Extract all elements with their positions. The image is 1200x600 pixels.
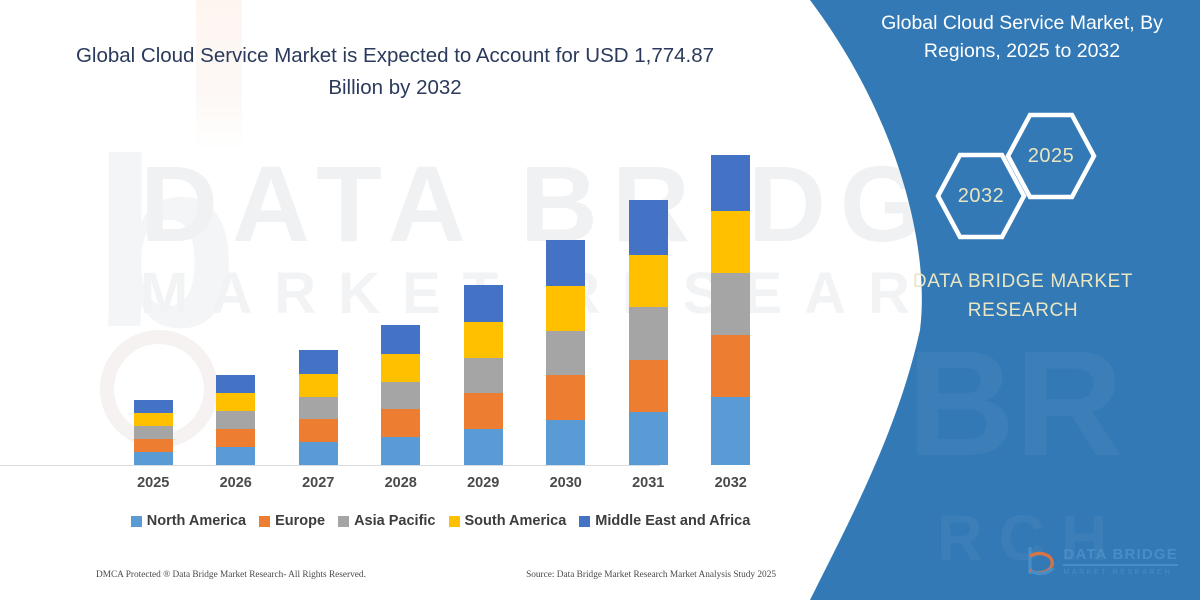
- bar-group-2025: [114, 140, 192, 465]
- legend-item[interactable]: South America: [449, 513, 567, 529]
- bar-segment[interactable]: [629, 200, 668, 255]
- x-tick-2028: 2028: [362, 475, 440, 491]
- brand-line-1: DATA BRIDGE MARKET: [858, 268, 1188, 297]
- logo-name: DATA BRIDGE: [1063, 547, 1178, 562]
- bar-group-2028: [362, 140, 440, 465]
- x-tick-2029: 2029: [444, 475, 522, 491]
- bar-segment[interactable]: [546, 331, 585, 376]
- bar-segment[interactable]: [464, 322, 503, 358]
- bar-segment[interactable]: [134, 439, 173, 452]
- footer: DMCA Protected ® Data Bridge Market Rese…: [96, 570, 776, 580]
- bar-segment[interactable]: [216, 447, 255, 465]
- bar-group-2027: [279, 140, 357, 465]
- stacked-bar-chart: [112, 140, 772, 465]
- x-tick-2027: 2027: [279, 475, 357, 491]
- panel-title: Global Cloud Service Market, By Regions,…: [862, 10, 1182, 65]
- hex-badge-2025: 2025: [1005, 110, 1097, 202]
- legend-label: South America: [465, 513, 567, 529]
- bar-segment[interactable]: [711, 211, 750, 273]
- bar-segment[interactable]: [134, 452, 173, 465]
- legend-label: North America: [147, 513, 246, 529]
- x-tick-2025: 2025: [114, 475, 192, 491]
- bar-segment[interactable]: [381, 409, 420, 437]
- bar-segment[interactable]: [381, 437, 420, 465]
- bar-segment[interactable]: [711, 155, 750, 211]
- legend-swatch-icon: [449, 516, 460, 527]
- bar-segment[interactable]: [546, 375, 585, 420]
- bar-segment[interactable]: [464, 358, 503, 394]
- bar-segment[interactable]: [134, 400, 173, 413]
- brand-line-2: RESEARCH: [858, 297, 1188, 326]
- footer-source: Source: Data Bridge Market Research Mark…: [526, 570, 776, 580]
- bar-segment[interactable]: [711, 335, 750, 397]
- bar-segment[interactable]: [299, 397, 338, 420]
- legend-swatch-icon: [259, 516, 270, 527]
- legend-swatch-icon: [338, 516, 349, 527]
- bar-segment[interactable]: [464, 393, 503, 429]
- legend-item[interactable]: Europe: [259, 513, 325, 529]
- data-bridge-logo: DATA BRIDGE MARKET RESEARCH: [1026, 544, 1178, 578]
- stacked-bar[interactable]: [216, 375, 255, 465]
- bar-segment[interactable]: [464, 285, 503, 322]
- x-tick-2030: 2030: [527, 475, 605, 491]
- bar-segment[interactable]: [299, 374, 338, 397]
- bar-segment[interactable]: [134, 426, 173, 439]
- bar-segment[interactable]: [629, 412, 668, 465]
- bar-segment[interactable]: [629, 307, 668, 359]
- legend-item[interactable]: Asia Pacific: [338, 513, 435, 529]
- x-tick-2026: 2026: [197, 475, 275, 491]
- bar-segment[interactable]: [299, 442, 338, 465]
- bar-group-2029: [444, 140, 522, 465]
- bar-segment[interactable]: [546, 286, 585, 331]
- bar-group-2030: [527, 140, 605, 465]
- bar-segment[interactable]: [381, 354, 420, 382]
- chart-legend: North AmericaEuropeAsia PacificSouth Ame…: [108, 513, 773, 529]
- svg-text:BR: BR: [907, 319, 1124, 487]
- stacked-bar[interactable]: [381, 325, 420, 465]
- bar-group-2031: [609, 140, 687, 465]
- legend-item[interactable]: Middle East and Africa: [579, 513, 750, 529]
- bar-segment[interactable]: [546, 240, 585, 286]
- bar-segment[interactable]: [711, 397, 750, 465]
- legend-label: Middle East and Africa: [595, 513, 750, 529]
- stacked-bar[interactable]: [299, 350, 338, 465]
- bar-segment[interactable]: [629, 255, 668, 307]
- stacked-bar[interactable]: [711, 155, 750, 465]
- legend-item[interactable]: North America: [131, 513, 246, 529]
- stacked-bar[interactable]: [134, 400, 173, 465]
- logo-tagline: MARKET RESEARCH: [1063, 569, 1178, 576]
- brand-name: DATA BRIDGE MARKET RESEARCH: [858, 268, 1188, 325]
- bar-segment[interactable]: [216, 393, 255, 411]
- bar-segment[interactable]: [546, 420, 585, 465]
- bar-segment[interactable]: [464, 429, 503, 465]
- bar-segment[interactable]: [216, 429, 255, 447]
- bar-segment[interactable]: [381, 382, 420, 410]
- bar-segment[interactable]: [711, 273, 750, 335]
- infographic-canvas: b DATA BRIDGE MARKET RESEARCH Global Clo…: [0, 0, 1200, 600]
- x-axis-tick-labels: 20252026202720282029203020312032: [112, 475, 772, 491]
- legend-swatch-icon: [131, 516, 142, 527]
- hex-badge-2025-label: 2025: [1005, 110, 1097, 202]
- bar-segment[interactable]: [299, 419, 338, 442]
- bar-segment[interactable]: [216, 375, 255, 393]
- bar-group-2026: [197, 140, 275, 465]
- x-tick-2031: 2031: [609, 475, 687, 491]
- stacked-bar[interactable]: [464, 285, 503, 465]
- chart-plot-area: [112, 140, 772, 465]
- logo-rule: [1063, 564, 1178, 566]
- bar-segment[interactable]: [216, 411, 255, 429]
- legend-label: Asia Pacific: [354, 513, 435, 529]
- stacked-bar[interactable]: [546, 240, 585, 465]
- bar-group-2032: [692, 140, 770, 465]
- page-title: Global Cloud Service Market is Expected …: [70, 40, 720, 104]
- stacked-bar[interactable]: [629, 200, 668, 465]
- x-axis-line: [0, 465, 660, 466]
- logo-mark-icon: [1026, 544, 1056, 578]
- bar-segment[interactable]: [381, 325, 420, 354]
- bar-segment[interactable]: [134, 413, 173, 426]
- bar-segment[interactable]: [299, 350, 338, 374]
- footer-copyright: DMCA Protected ® Data Bridge Market Rese…: [96, 570, 366, 580]
- legend-swatch-icon: [579, 516, 590, 527]
- legend-label: Europe: [275, 513, 325, 529]
- bar-segment[interactable]: [629, 360, 668, 412]
- x-tick-2032: 2032: [692, 475, 770, 491]
